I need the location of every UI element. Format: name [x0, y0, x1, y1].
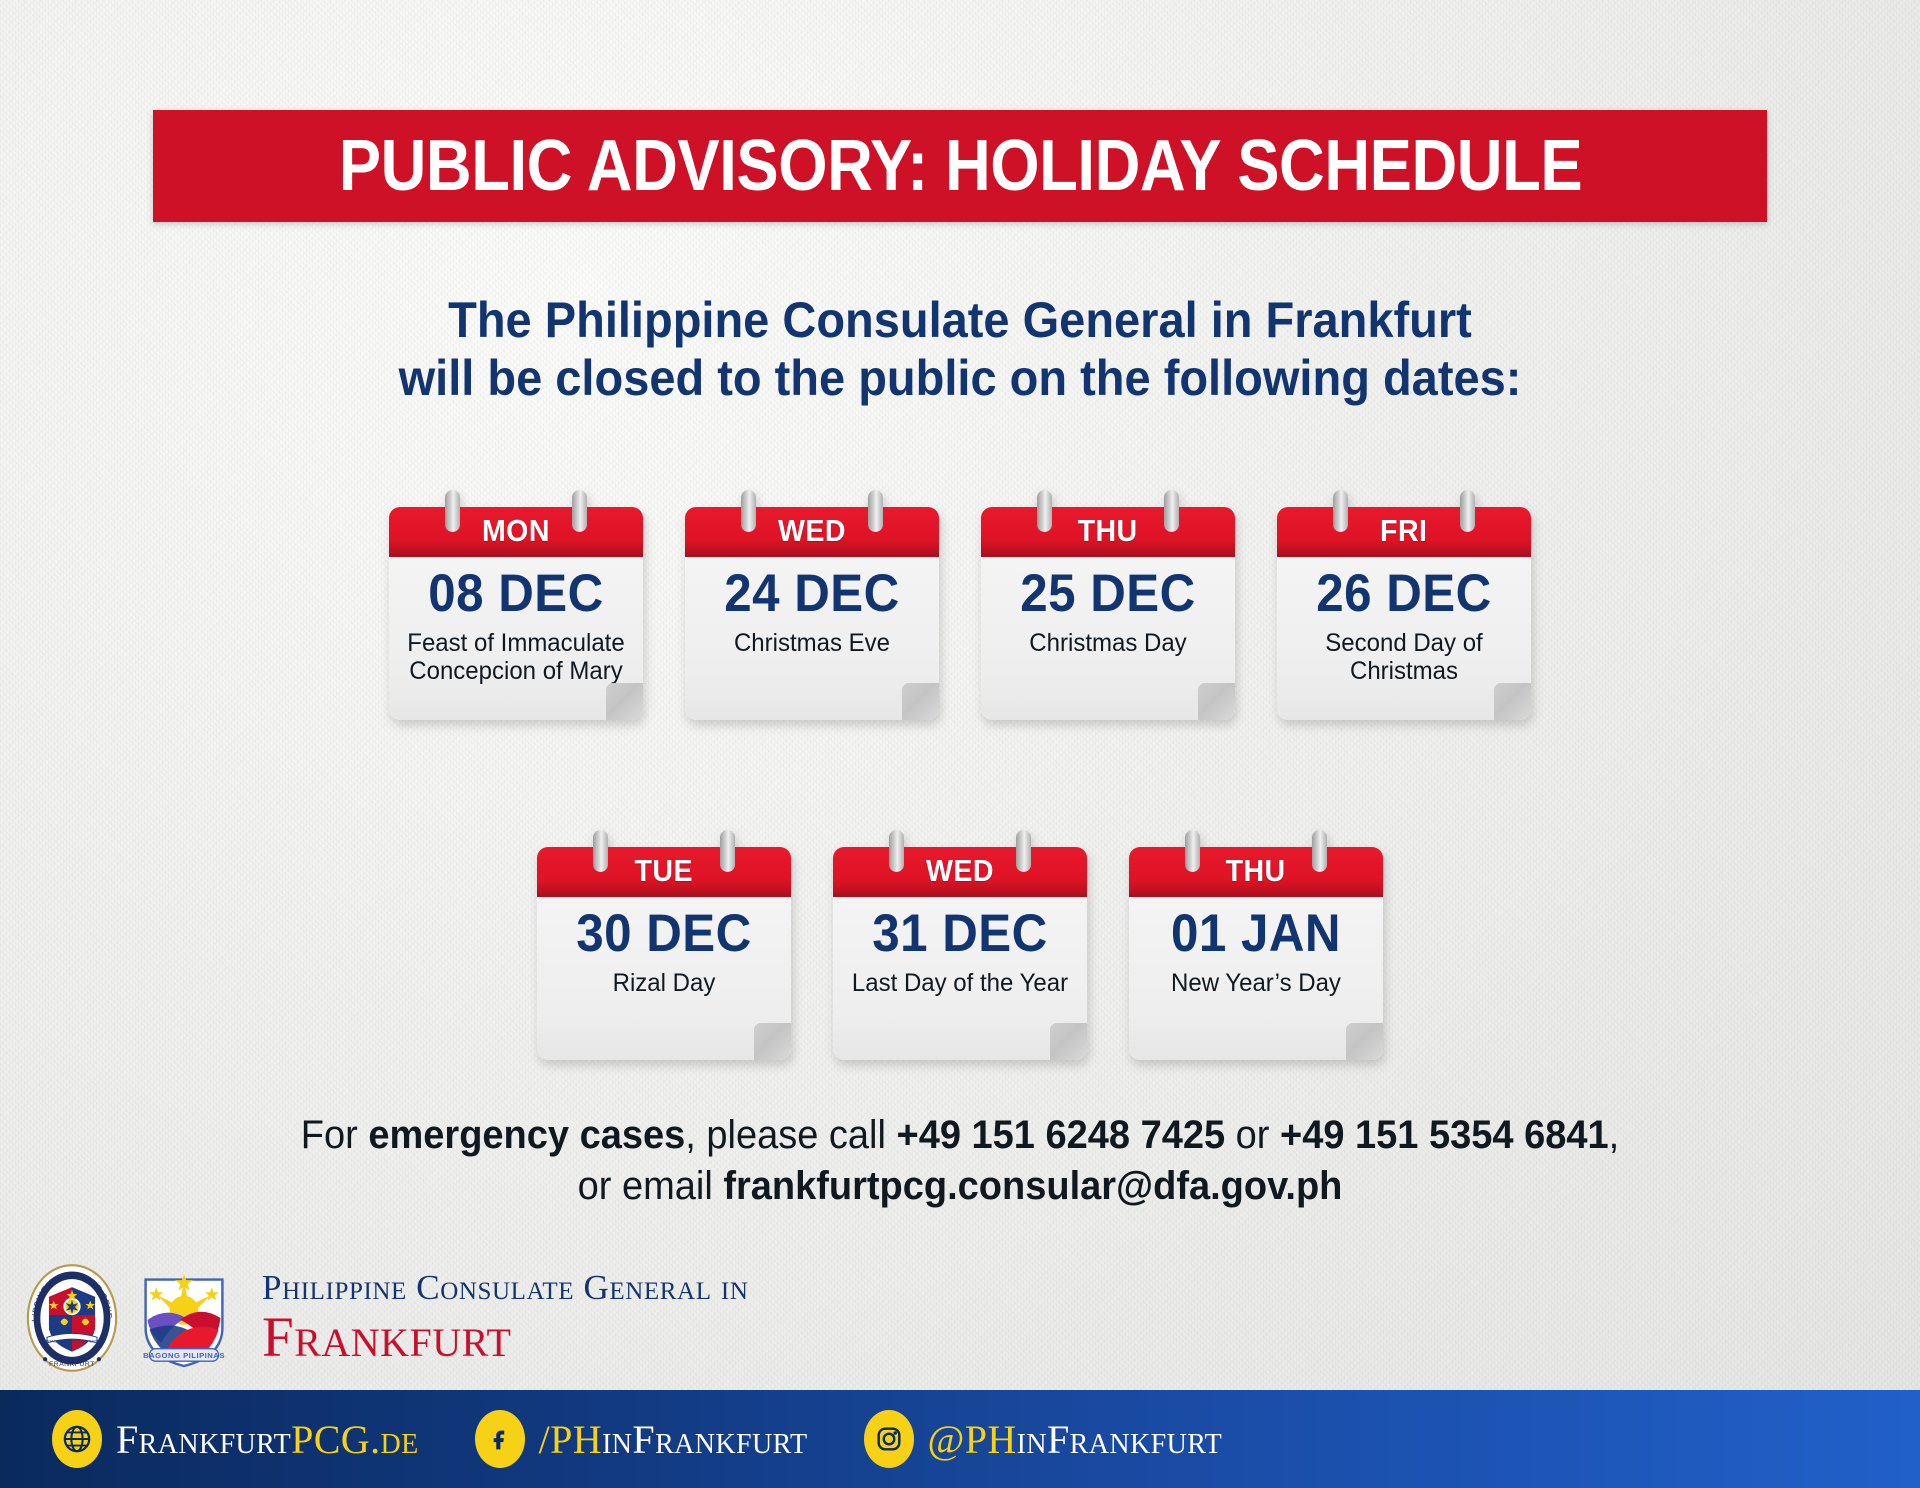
binder-ring-icon: [1037, 490, 1052, 532]
svg-text:MATATAG ANG BAGONG PILIPINAS: MATATAG ANG BAGONG PILIPINAS: [39, 1338, 106, 1343]
emergency-prefix: For: [301, 1113, 369, 1157]
footer-website-link[interactable]: FrankfurtPCG.de: [52, 1410, 419, 1468]
calendar-date: 08 DEC: [398, 566, 634, 622]
calendar-header: WED: [685, 507, 939, 557]
brand-text: Philippine Consulate General in Frankfur…: [262, 1270, 749, 1366]
footer-instagram-label: @PHinFrankfurt: [928, 1416, 1223, 1463]
page-curl-icon: [1198, 683, 1235, 720]
emergency-mid: , please call: [685, 1113, 896, 1157]
page-curl-icon: [1346, 1023, 1383, 1060]
calendar-day-of-week: FRI: [1380, 513, 1427, 549]
footer-website-label: FrankfurtPCG.de: [116, 1416, 419, 1463]
calendar-holiday-label: Christmas Day: [986, 629, 1230, 657]
calendar-date: 31 DEC: [842, 906, 1078, 962]
instagram-icon: [864, 1410, 914, 1468]
binder-ring-icon: [1164, 490, 1179, 532]
footer-instagram-suffix: inFrankfurt: [1017, 1417, 1222, 1462]
subheading-line-2: will be closed to the public on the foll…: [58, 350, 1863, 408]
calendar-header: FRI: [1277, 507, 1531, 557]
footer-facebook-suffix: inFrankfurt: [602, 1417, 807, 1462]
calendar-card: THU 01 JAN New Year’s Day: [1129, 830, 1383, 1060]
emergency-email-prefix: or email: [578, 1164, 724, 1208]
calendar-day-of-week: MON: [482, 513, 550, 549]
calendar-card: WED 31 DEC Last Day of the Year: [833, 830, 1087, 1060]
calendar-card: THU 25 DEC Christmas Day: [981, 490, 1235, 720]
bagong-pilipinas-logo-icon: BAGONG PILIPINAS: [136, 1266, 232, 1370]
calendar-header: THU: [1129, 847, 1383, 897]
page-curl-icon: [1050, 1023, 1087, 1060]
emergency-line-2: or email frankfurtpcg.consular@dfa.gov.p…: [48, 1161, 1872, 1212]
calendar-card: MON 08 DEC Feast of Immaculate Concepcio…: [389, 490, 643, 720]
footer-website-prefix: Frankfurt: [116, 1417, 291, 1462]
calendar-row-2: TUE 30 DEC Rizal Day WED 31 DEC Last Day…: [0, 830, 1920, 1060]
footer-facebook-link[interactable]: /PHinFrankfurt: [475, 1410, 808, 1468]
calendar-day-of-week: WED: [778, 513, 846, 549]
emergency-phone-2[interactable]: +49 151 5354 6841: [1280, 1113, 1609, 1157]
page-curl-icon: [754, 1023, 791, 1060]
page-curl-icon: [606, 683, 643, 720]
brand-line-1: Philippine Consulate General in: [262, 1270, 749, 1305]
subheading-line-1: The Philippine Consulate General in Fran…: [58, 292, 1863, 350]
binder-ring-icon: [1460, 490, 1475, 532]
facebook-icon: [475, 1410, 525, 1468]
brand-line-2: Frankfurt: [262, 1309, 749, 1366]
footer-facebook-highlight: /PH: [539, 1417, 602, 1462]
binder-ring-icon: [1185, 830, 1200, 872]
calendar-day-of-week: TUE: [635, 853, 693, 889]
calendar-holiday-label: Feast of Immaculate Concepcion of Mary: [394, 629, 638, 686]
svg-text:BAGONG PILIPINAS: BAGONG PILIPINAS: [143, 1351, 225, 1360]
branding-block: MATATAG ANG BAGONG PILIPINAS FRANKFURT P…: [24, 1262, 749, 1374]
calendar-holiday-label: Christmas Eve: [690, 629, 934, 657]
calendar-day-of-week: WED: [926, 853, 994, 889]
globe-icon: [52, 1410, 102, 1468]
calendar-date: 30 DEC: [546, 906, 782, 962]
footer-website-highlight: PCG.de: [291, 1417, 419, 1462]
calendar-day-of-week: THU: [1078, 513, 1138, 549]
binder-ring-icon: [1312, 830, 1327, 872]
page-curl-icon: [1494, 683, 1531, 720]
calendar-date: 26 DEC: [1286, 566, 1522, 622]
emergency-comma: ,: [1609, 1113, 1620, 1157]
emergency-email[interactable]: frankfurtpcg.consular@dfa.gov.ph: [723, 1164, 1342, 1208]
footer-instagram-highlight: @PH: [928, 1417, 1017, 1462]
binder-ring-icon: [1333, 490, 1348, 532]
page-curl-icon: [902, 683, 939, 720]
calendar-header: WED: [833, 847, 1087, 897]
calendar-holiday-label: Rizal Day: [542, 969, 786, 997]
calendar-header: THU: [981, 507, 1235, 557]
emergency-contact-block: For emergency cases, please call +49 151…: [48, 1110, 1872, 1212]
calendar-holiday-label: Last Day of the Year: [838, 969, 1082, 997]
binder-ring-icon: [593, 830, 608, 872]
binder-ring-icon: [741, 490, 756, 532]
calendar-holiday-label: New Year’s Day: [1134, 969, 1378, 997]
calendar-card: TUE 30 DEC Rizal Day: [537, 830, 791, 1060]
binder-ring-icon: [445, 490, 460, 532]
calendar-day-of-week: THU: [1226, 853, 1286, 889]
footer-facebook-label: /PHinFrankfurt: [539, 1416, 808, 1463]
title-banner: PUBLIC ADVISORY: HOLIDAY SCHEDULE: [153, 110, 1767, 222]
binder-ring-icon: [1016, 830, 1031, 872]
calendar-date: 24 DEC: [694, 566, 930, 622]
calendar-date: 25 DEC: [990, 566, 1226, 622]
page-title: PUBLIC ADVISORY: HOLIDAY SCHEDULE: [338, 130, 1581, 202]
svg-text:FRANKFURT: FRANKFURT: [49, 1361, 95, 1368]
binder-ring-icon: [572, 490, 587, 532]
calendar-header: MON: [389, 507, 643, 557]
poster-canvas: PUBLIC ADVISORY: HOLIDAY SCHEDULE The Ph…: [0, 0, 1920, 1488]
emergency-phone-1[interactable]: +49 151 6248 7425: [896, 1113, 1225, 1157]
calendar-card: FRI 26 DEC Second Day of Christmas: [1277, 490, 1531, 720]
calendar-card: WED 24 DEC Christmas Eve: [685, 490, 939, 720]
binder-ring-icon: [720, 830, 735, 872]
subheading: The Philippine Consulate General in Fran…: [58, 292, 1863, 407]
binder-ring-icon: [889, 830, 904, 872]
calendar-date: 01 JAN: [1138, 906, 1374, 962]
binder-ring-icon: [868, 490, 883, 532]
emergency-or: or: [1225, 1113, 1280, 1157]
calendar-row-1: MON 08 DEC Feast of Immaculate Concepcio…: [0, 490, 1920, 720]
footer-instagram-link[interactable]: @PHinFrankfurt: [864, 1410, 1223, 1468]
footer-bar: FrankfurtPCG.de /PHinFrankfurt @PHinFran…: [0, 1390, 1920, 1488]
calendar-header: TUE: [537, 847, 791, 897]
calendar-holiday-label: Second Day of Christmas: [1282, 629, 1526, 686]
philippine-consulate-general-frankfurt-seal-icon: MATATAG ANG BAGONG PILIPINAS FRANKFURT P…: [24, 1262, 120, 1374]
emergency-bold-cases: emergency cases: [368, 1113, 685, 1157]
emergency-line-1: For emergency cases, please call +49 151…: [48, 1110, 1872, 1161]
